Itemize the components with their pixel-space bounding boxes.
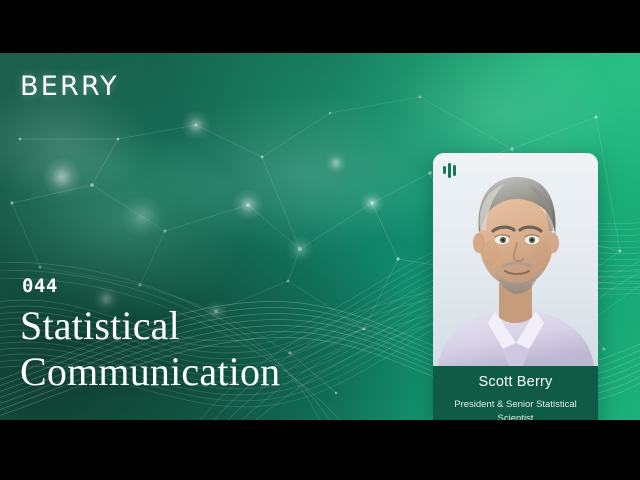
guest-name: Scott Berry — [433, 372, 598, 392]
letterbox-bottom-bar — [0, 420, 640, 480]
audio-waveform-icon — [443, 162, 456, 178]
guest-role-line-2: Scientist — [443, 412, 588, 420]
page-title: Statistical Communication — [20, 303, 420, 394]
guest-photo — [433, 153, 598, 366]
episode-number: 044 — [22, 275, 58, 297]
guest-caption: Scott Berry President & Senior Statistic… — [433, 366, 598, 420]
berry-logo: BERRY — [20, 71, 119, 102]
letterbox-top-bar — [0, 0, 640, 53]
title-line-2: Communication — [20, 349, 420, 395]
presentation-slide: BERRY 044 Statistical Communication — [0, 53, 640, 420]
avatar — [433, 153, 598, 366]
video-player-frame: BERRY 044 Statistical Communication — [0, 0, 640, 480]
guest-card: Scott Berry President & Senior Statistic… — [433, 153, 598, 420]
guest-role: President & Senior Statistical Scientist — [433, 398, 598, 420]
guest-role-line-1: President & Senior Statistical — [443, 398, 588, 412]
title-line-1: Statistical — [20, 303, 420, 349]
